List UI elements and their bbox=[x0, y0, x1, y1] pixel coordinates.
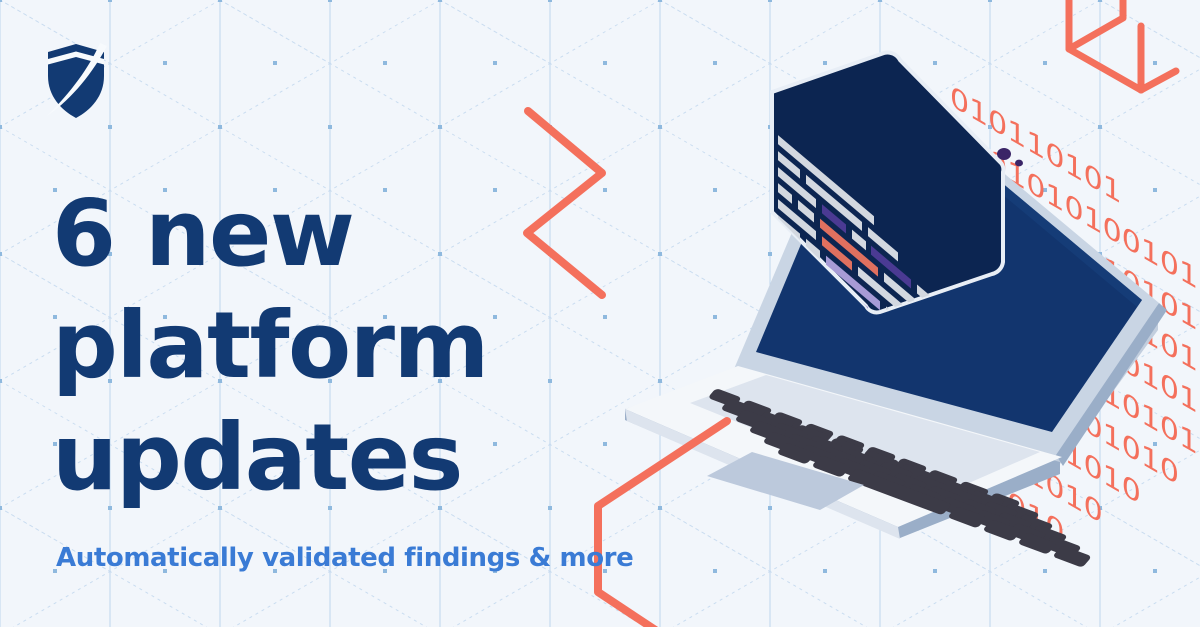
coral-zigzag-top-right bbox=[1069, 0, 1176, 90]
page-title: 6 new platform updates bbox=[52, 178, 572, 514]
banner-canvas: 010110101 0101010100101010101 0101010110… bbox=[0, 0, 1200, 627]
page-subtitle: Automatically validated findings & more bbox=[56, 543, 633, 573]
